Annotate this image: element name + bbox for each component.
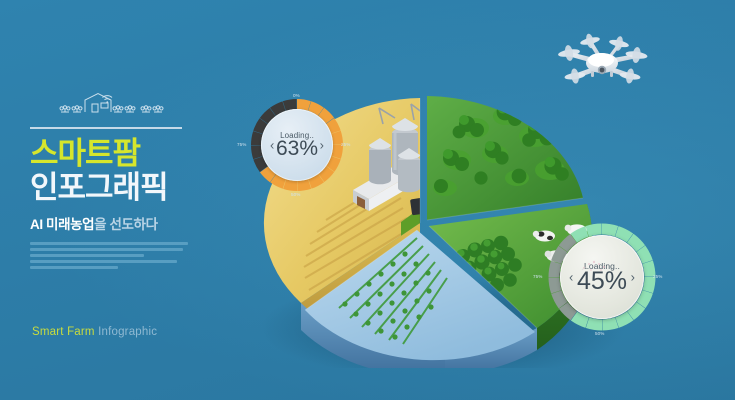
gauge-63-prev-icon[interactable]: ‹ [270,139,274,152]
gauge-63-value: 63% [276,138,318,159]
smart-farm-house-wifi-emblem [30,92,180,126]
gauge-loading-63[interactable]: Loading.. 63% ‹ › 0% 25% 50% 75% [246,94,348,196]
watermark: Smart Farm Infographic [32,326,157,338]
gauge-45-tick-left: 75% [533,274,543,279]
gauge-45-tick-right: 25% [653,274,663,279]
gauge-45-prev-icon[interactable]: ‹ [569,271,573,284]
gauge-63-tick-right: 25% [341,142,351,147]
subtitle-strong: AI 미래농업 [30,217,94,232]
sparkle-icon [580,259,608,273]
text-line [30,242,188,245]
subtitle-light: 을 선도하다 [94,217,157,232]
watermark-suffix: Infographic [98,326,157,338]
gauge-63-next-icon[interactable]: › [320,139,324,152]
watermark-brand: Smart Farm [32,326,95,338]
gauge-45-tick-bottom: 50% [595,331,605,336]
text-line [30,254,144,257]
brand-divider [30,127,182,129]
gauge-63-tick-bottom: 50% [291,192,301,197]
gauge-63-tick-left: 75% [237,142,247,147]
gauge-45-face: Loading.. 45% ‹ › [560,235,644,319]
text-line [30,248,183,251]
gauge-63-face: Loading.. 63% ‹ › [261,109,333,181]
infographic-canvas: 스마트팜 인포그래픽 AI 미래농업을 선도하다 Lorem ipsum dol… [0,0,735,400]
text-line [30,266,118,269]
gauge-63-tick-top: 0% [293,93,300,98]
body-paragraph: Lorem ipsum dolor sit amet, consectetur … [30,242,188,269]
gauge-loading-45[interactable]: Loading.. 45% ‹ › 25% 50% 75% [543,218,661,336]
gauge-45-next-icon[interactable]: › [631,271,635,284]
text-line [30,260,177,263]
